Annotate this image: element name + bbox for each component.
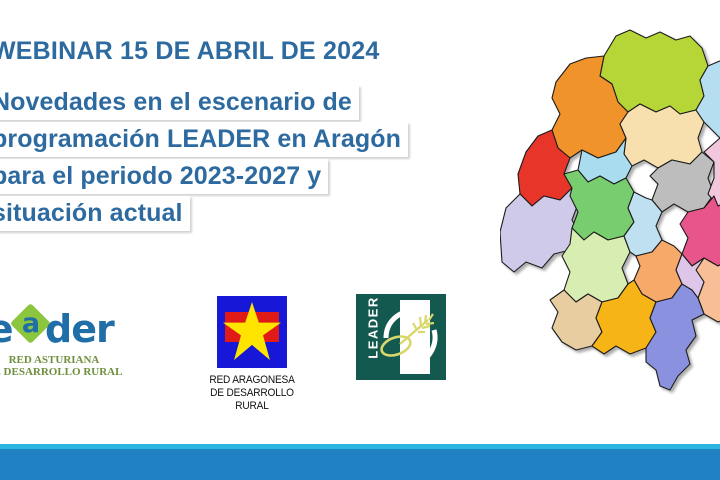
map-region-green-central <box>564 170 634 240</box>
webinar-date-line: WEBINAR 15 DE ABRIL DE 2024 <box>0 34 385 69</box>
aragon-map-svg <box>500 18 720 408</box>
leader-wheat-icon <box>376 302 444 372</box>
footer-bar <box>0 444 720 480</box>
reader-wordmark-part-2: der <box>45 306 114 352</box>
title-line-1: Novedades en el escenario de <box>0 85 359 120</box>
reader-caption: RED ASTURIANA DE DESARROLLO RURAL <box>0 354 124 378</box>
title-block: WEBINAR 15 DE ABRIL DE 2024 Novedades en… <box>0 34 456 233</box>
reader-logo: re a der RED ASTURIANA DE DESARROLLO RUR… <box>0 306 120 386</box>
reader-caption-line-1: RED ASTURIANA <box>0 354 124 366</box>
red-aragonesa-mark-icon <box>217 296 287 368</box>
leader-logo: LEADER <box>356 294 448 382</box>
leader-logo-box: LEADER <box>356 294 446 380</box>
title-line-4: situación actual <box>0 196 190 231</box>
presentation-slide: WEBINAR 15 DE ABRIL DE 2024 Novedades en… <box>0 0 720 480</box>
red-aragonesa-caption-line-2: DE DESARROLLO RURAL <box>201 387 302 413</box>
reader-wordmark: re a der <box>0 306 120 352</box>
title-line-3: para el periodo 2023-2027 y <box>0 159 328 194</box>
red-aragonesa-caption-line-1: RED ARAGONESA <box>201 374 302 387</box>
reader-wordmark-part-1: re <box>0 306 13 352</box>
map-region-lightgreen-southwest <box>562 228 630 302</box>
logo-row: re a der RED ASTURIANA DE DESARROLLO RUR… <box>0 288 470 418</box>
red-aragonesa-caption: RED ARAGONESA DE DESARROLLO RURAL <box>201 374 302 413</box>
reader-caption-line-2: DE DESARROLLO RURAL <box>0 366 124 378</box>
title-line-2: programación LEADER en Aragón <box>0 122 408 157</box>
aragon-leader-map <box>500 18 720 408</box>
map-region-cream-north-central <box>620 104 704 168</box>
reader-diamond-letter: a <box>20 308 41 337</box>
red-aragonesa-logo: RED ARAGONESA DE DESARROLLO RURAL <box>197 296 307 416</box>
footer-accent-stripe <box>0 444 720 449</box>
